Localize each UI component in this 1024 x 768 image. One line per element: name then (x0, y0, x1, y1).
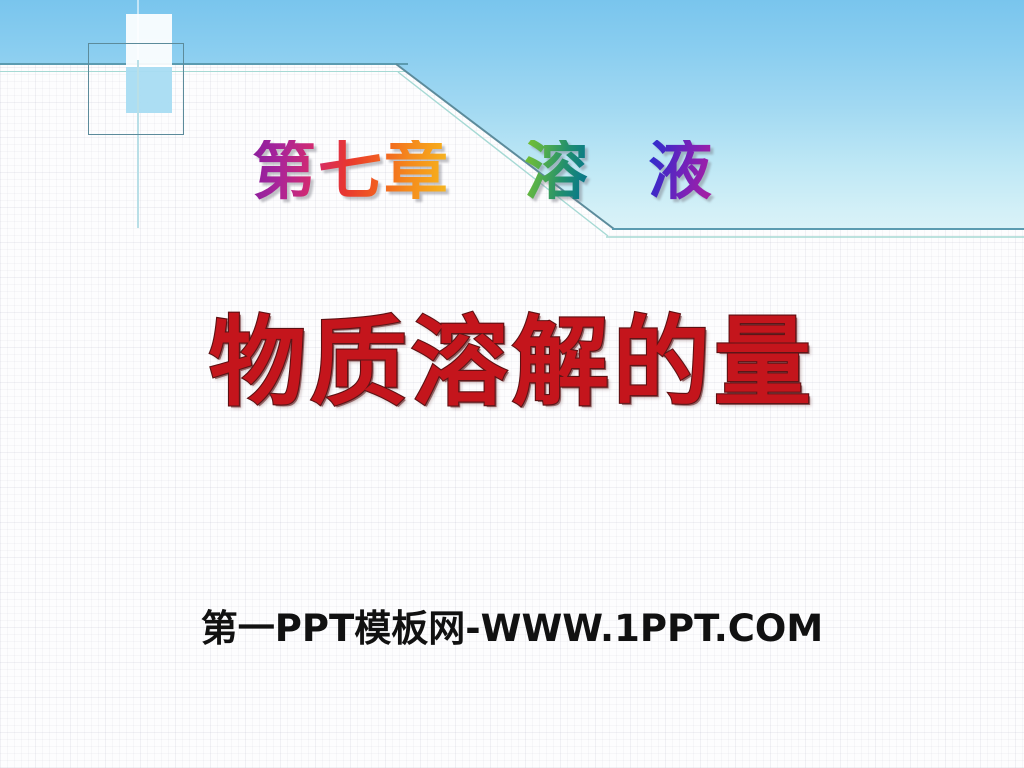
header-rule-dark (0, 63, 408, 65)
presentation-slide: 第七章 溶 液 物质溶解的量 第一PPT模板网-WWW.1PPT.COM (0, 0, 1024, 768)
page-title: 物质溶解的量 (0, 312, 1024, 415)
header-rule-light (0, 71, 406, 72)
footer-watermark: 第一PPT模板网-WWW.1PPT.COM (0, 598, 1024, 652)
chapter-number-text: 第七章 (252, 140, 450, 204)
outlined-accent-square (88, 43, 184, 135)
chapter-topic-text-1: 溶 (524, 140, 590, 204)
chapter-topic-text-2: 液 (648, 140, 714, 204)
chapter-heading: 第七章 溶 液 (0, 135, 1024, 235)
